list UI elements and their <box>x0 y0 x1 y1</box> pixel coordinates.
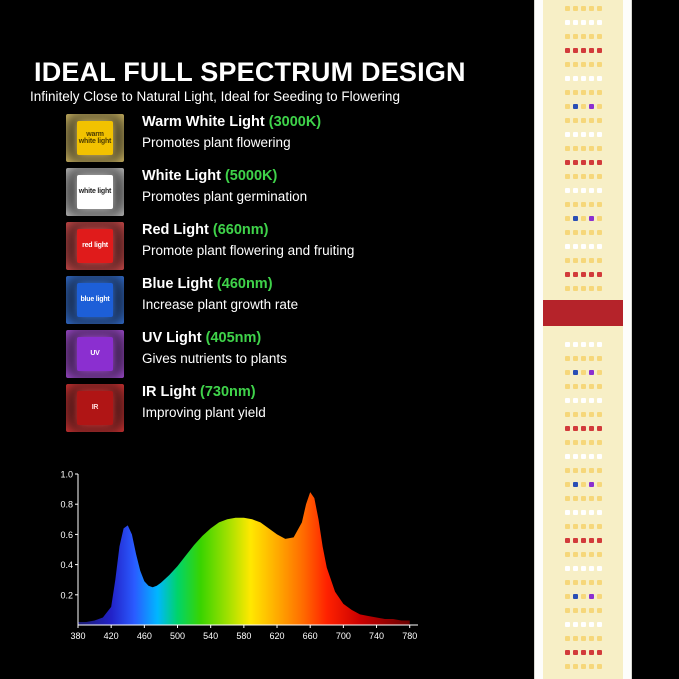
led-diode <box>581 6 586 11</box>
led-diode <box>573 468 578 473</box>
led-diode <box>573 174 578 179</box>
led-diode <box>573 370 578 375</box>
led-diode <box>573 76 578 81</box>
led-diode <box>581 510 586 515</box>
feature-title: Red Light (660nm) <box>142 222 354 238</box>
led-diode <box>589 244 594 249</box>
led-diode <box>597 188 602 193</box>
feature-row: blue lightBlue Light (460nm)Increase pla… <box>66 276 506 330</box>
led-row <box>543 594 623 599</box>
led-diode <box>565 160 570 165</box>
led-row <box>543 202 623 207</box>
led-diode <box>597 538 602 543</box>
feature-text: Warm White Light (3000K)Promotes plant f… <box>142 114 321 150</box>
led-diode <box>565 356 570 361</box>
led-diode <box>573 384 578 389</box>
led-diode <box>589 118 594 123</box>
led-diode <box>597 468 602 473</box>
led-diode <box>581 286 586 291</box>
led-diode <box>565 104 570 109</box>
led-row <box>543 104 623 109</box>
led-diode <box>597 524 602 529</box>
led-diode <box>573 202 578 207</box>
led-diode <box>589 132 594 137</box>
led-diode <box>573 34 578 39</box>
led-bar-panel <box>521 0 679 679</box>
led-diode <box>589 370 594 375</box>
chip-label: warm white light <box>77 121 113 155</box>
x-tick-label: 660 <box>303 631 318 641</box>
x-tick-label: 380 <box>70 631 85 641</box>
led-diode <box>589 90 594 95</box>
led-diode <box>573 636 578 641</box>
feature-description: Improving plant yield <box>142 405 266 420</box>
chip-label: IR <box>77 391 113 425</box>
led-diode <box>565 132 570 137</box>
led-row <box>543 566 623 571</box>
page-title: IDEAL FULL SPECTRUM DESIGN <box>34 57 466 88</box>
led-diode <box>573 160 578 165</box>
led-diode <box>581 622 586 627</box>
led-diode <box>565 272 570 277</box>
led-diode <box>573 524 578 529</box>
led-diode <box>597 370 602 375</box>
led-diode <box>573 664 578 669</box>
led-diode <box>597 244 602 249</box>
led-diode <box>565 566 570 571</box>
led-row <box>543 552 623 557</box>
led-diode <box>573 118 578 123</box>
feature-spec: (660nm) <box>213 222 269 238</box>
led-diode <box>581 566 586 571</box>
led-diode <box>573 552 578 557</box>
feature-description: Promote plant flowering and fruiting <box>142 243 354 258</box>
led-row <box>543 272 623 277</box>
led-row <box>543 454 623 459</box>
feature-description: Gives nutrients to plants <box>142 351 287 366</box>
led-diode <box>565 524 570 529</box>
led-diode <box>565 426 570 431</box>
led-diode <box>581 48 586 53</box>
led-diode <box>581 174 586 179</box>
led-diode <box>597 496 602 501</box>
led-diode <box>565 552 570 557</box>
feature-text: Blue Light (460nm)Increase plant growth … <box>142 276 298 312</box>
led-diode <box>589 622 594 627</box>
led-diode <box>589 566 594 571</box>
led-diode <box>565 650 570 655</box>
red-led-chip-icon: red light <box>66 222 124 270</box>
feature-text: Red Light (660nm)Promote plant flowering… <box>142 222 354 258</box>
led-diode <box>573 20 578 25</box>
led-diode <box>589 104 594 109</box>
led-diode <box>573 272 578 277</box>
led-diode <box>597 258 602 263</box>
feature-row: warm white lightWarm White Light (3000K)… <box>66 114 506 168</box>
y-tick-label: 0.6 <box>60 530 73 540</box>
led-diode <box>589 286 594 291</box>
feature-title: IR Light (730nm) <box>142 384 266 400</box>
led-diode <box>581 160 586 165</box>
led-row <box>543 230 623 235</box>
led-diode <box>565 538 570 543</box>
led-diode <box>597 20 602 25</box>
led-diode <box>589 272 594 277</box>
chip-label: red light <box>77 229 113 263</box>
led-diode <box>589 608 594 613</box>
led-diode <box>597 62 602 67</box>
led-diode <box>589 538 594 543</box>
led-diode <box>573 538 578 543</box>
led-diode <box>589 146 594 151</box>
led-row <box>543 216 623 221</box>
led-diode <box>589 412 594 417</box>
led-diode <box>597 426 602 431</box>
led-diode <box>581 356 586 361</box>
led-diode <box>597 650 602 655</box>
led-diode <box>565 384 570 389</box>
led-diode <box>573 454 578 459</box>
led-row <box>543 398 623 403</box>
led-diode <box>589 664 594 669</box>
led-diode <box>573 342 578 347</box>
led-diode <box>573 426 578 431</box>
led-diode <box>589 384 594 389</box>
feature-title: Blue Light (460nm) <box>142 276 298 292</box>
chip-label: UV <box>77 337 113 371</box>
led-diode <box>565 188 570 193</box>
led-diode <box>597 636 602 641</box>
led-diode <box>573 594 578 599</box>
spectrum-area <box>78 492 410 625</box>
led-diode <box>589 454 594 459</box>
led-diode <box>565 146 570 151</box>
led-diode <box>589 174 594 179</box>
led-diode <box>597 202 602 207</box>
led-row <box>543 244 623 249</box>
spectrum-chart-svg: 0.20.40.60.81.03804204605005405806206607… <box>50 466 430 651</box>
y-tick-label: 1.0 <box>60 470 73 480</box>
warm-white-led-chip-icon: warm white light <box>66 114 124 162</box>
led-diode <box>597 272 602 277</box>
led-diode <box>597 440 602 445</box>
led-diode <box>589 650 594 655</box>
feature-title: White Light (5000K) <box>142 168 307 184</box>
led-diode <box>565 34 570 39</box>
page-subtitle: Infinitely Close to Natural Light, Ideal… <box>30 89 400 104</box>
uv-led-chip-icon: UV <box>66 330 124 378</box>
led-diode <box>589 76 594 81</box>
feature-row: white lightWhite Light (5000K)Promotes p… <box>66 168 506 222</box>
led-diode <box>573 286 578 291</box>
led-diode <box>581 384 586 389</box>
led-diode <box>581 342 586 347</box>
led-row <box>543 440 623 445</box>
led-row <box>543 636 623 641</box>
led-diode <box>597 594 602 599</box>
led-diode <box>597 286 602 291</box>
led-diode <box>589 510 594 515</box>
led-diode <box>581 62 586 67</box>
led-diode <box>589 258 594 263</box>
led-diode <box>581 580 586 585</box>
led-diode <box>565 412 570 417</box>
led-diode <box>565 510 570 515</box>
led-diode <box>565 496 570 501</box>
led-diode <box>573 6 578 11</box>
led-bar-red-connector <box>543 300 623 326</box>
led-diode <box>589 62 594 67</box>
led-diode <box>597 6 602 11</box>
led-diode <box>581 608 586 613</box>
led-diode <box>581 426 586 431</box>
x-tick-label: 700 <box>336 631 351 641</box>
led-diode <box>597 580 602 585</box>
led-diode <box>589 594 594 599</box>
feature-title: Warm White Light (3000K) <box>142 114 321 130</box>
led-diode <box>573 216 578 221</box>
led-row <box>543 496 623 501</box>
white-led-chip-icon: white light <box>66 168 124 216</box>
led-row <box>543 482 623 487</box>
feature-description: Promotes plant germination <box>142 189 307 204</box>
led-diode <box>597 566 602 571</box>
led-diode <box>597 216 602 221</box>
led-row <box>543 524 623 529</box>
led-diode <box>597 132 602 137</box>
led-diode <box>573 146 578 151</box>
led-diode <box>565 286 570 291</box>
led-diode <box>565 622 570 627</box>
led-diode <box>581 412 586 417</box>
led-diode <box>581 216 586 221</box>
led-diode <box>565 580 570 585</box>
led-diode <box>573 356 578 361</box>
led-diode <box>589 342 594 347</box>
led-diode <box>597 48 602 53</box>
led-diode <box>597 622 602 627</box>
feature-text: White Light (5000K)Promotes plant germin… <box>142 168 307 204</box>
led-diode <box>573 132 578 137</box>
led-row <box>543 356 623 361</box>
led-diode <box>589 552 594 557</box>
led-diode <box>581 132 586 137</box>
led-diode <box>573 62 578 67</box>
led-spectrum-infographic: IDEAL FULL SPECTRUM DESIGN Infinitely Cl… <box>0 0 679 679</box>
led-diode <box>589 188 594 193</box>
led-diode <box>565 258 570 263</box>
feature-name: UV Light <box>142 330 206 346</box>
feature-row: IRIR Light (730nm)Improving plant yield <box>66 384 506 438</box>
x-tick-label: 740 <box>369 631 384 641</box>
led-row <box>543 664 623 669</box>
led-row <box>543 622 623 627</box>
led-diode <box>597 454 602 459</box>
led-row <box>543 62 623 67</box>
x-tick-label: 420 <box>104 631 119 641</box>
led-diode <box>573 622 578 627</box>
led-diode <box>581 594 586 599</box>
led-diode <box>589 160 594 165</box>
led-row <box>543 146 623 151</box>
feature-spec: (5000K) <box>225 168 277 184</box>
led-row <box>543 426 623 431</box>
led-diode <box>565 230 570 235</box>
x-tick-label: 540 <box>203 631 218 641</box>
led-row <box>543 6 623 11</box>
led-diode <box>581 650 586 655</box>
led-diode <box>573 440 578 445</box>
led-diode <box>589 580 594 585</box>
led-diode <box>565 468 570 473</box>
led-diode <box>581 90 586 95</box>
led-diode <box>565 594 570 599</box>
led-diode <box>597 230 602 235</box>
led-diode <box>589 230 594 235</box>
led-row <box>543 412 623 417</box>
led-diode <box>589 6 594 11</box>
led-diode <box>581 76 586 81</box>
led-diode <box>573 650 578 655</box>
feature-name: White Light <box>142 168 225 184</box>
led-row <box>543 580 623 585</box>
led-diode <box>581 20 586 25</box>
led-row <box>543 76 623 81</box>
led-row <box>543 132 623 137</box>
content-column: IDEAL FULL SPECTRUM DESIGN Infinitely Cl… <box>0 0 520 679</box>
led-diode <box>573 398 578 403</box>
feature-name: Red Light <box>142 222 213 238</box>
led-diode <box>581 496 586 501</box>
led-diode <box>565 174 570 179</box>
led-bar-frame <box>534 0 632 679</box>
led-diode <box>581 482 586 487</box>
chip-label: blue light <box>77 283 113 317</box>
led-row <box>543 286 623 291</box>
led-diode <box>581 636 586 641</box>
led-diode <box>597 160 602 165</box>
led-diode <box>589 356 594 361</box>
x-tick-label: 580 <box>236 631 251 641</box>
led-diode <box>581 538 586 543</box>
x-tick-label: 780 <box>402 631 417 641</box>
x-tick-label: 460 <box>137 631 152 641</box>
led-diode <box>581 230 586 235</box>
led-row <box>543 20 623 25</box>
led-diode <box>581 552 586 557</box>
led-row <box>543 650 623 655</box>
led-diode <box>565 6 570 11</box>
led-diode <box>581 146 586 151</box>
led-diode <box>581 258 586 263</box>
led-diode <box>565 118 570 123</box>
led-diode <box>573 230 578 235</box>
led-diode <box>589 524 594 529</box>
led-diode <box>565 370 570 375</box>
led-diode <box>597 146 602 151</box>
led-diode <box>573 48 578 53</box>
led-diode <box>589 216 594 221</box>
led-row <box>543 538 623 543</box>
led-diode <box>581 524 586 529</box>
led-diode <box>573 104 578 109</box>
led-diode <box>565 664 570 669</box>
feature-description: Increase plant growth rate <box>142 297 298 312</box>
led-diode <box>565 20 570 25</box>
led-row <box>543 468 623 473</box>
led-diode <box>597 76 602 81</box>
led-diode <box>573 566 578 571</box>
led-diode <box>565 76 570 81</box>
feature-spec: (405nm) <box>206 330 262 346</box>
led-diode <box>565 454 570 459</box>
led-diode <box>581 118 586 123</box>
led-diode <box>565 482 570 487</box>
led-diode <box>597 608 602 613</box>
led-diode <box>597 384 602 389</box>
led-diode <box>573 510 578 515</box>
blue-led-chip-icon: blue light <box>66 276 124 324</box>
led-diode <box>565 440 570 445</box>
led-diode <box>581 454 586 459</box>
led-row <box>543 370 623 375</box>
ir-led-chip-icon: IR <box>66 384 124 432</box>
led-diode <box>565 216 570 221</box>
led-row <box>543 608 623 613</box>
led-diode <box>597 342 602 347</box>
feature-row: red lightRed Light (660nm)Promote plant … <box>66 222 506 276</box>
y-tick-label: 0.8 <box>60 500 73 510</box>
led-row <box>543 258 623 263</box>
led-row <box>543 118 623 123</box>
led-diode <box>589 496 594 501</box>
led-diode <box>589 202 594 207</box>
led-diode <box>589 398 594 403</box>
led-row <box>543 342 623 347</box>
chip-label: white light <box>77 175 113 209</box>
led-diode <box>573 258 578 263</box>
led-diode <box>589 48 594 53</box>
led-row <box>543 34 623 39</box>
x-tick-label: 500 <box>170 631 185 641</box>
feature-text: UV Light (405nm)Gives nutrients to plant… <box>142 330 287 366</box>
led-diode <box>581 104 586 109</box>
led-diode <box>565 202 570 207</box>
led-diode <box>573 608 578 613</box>
led-diode <box>589 468 594 473</box>
led-diode <box>573 244 578 249</box>
feature-list: warm white lightWarm White Light (3000K)… <box>66 114 506 438</box>
led-diode <box>581 272 586 277</box>
led-diode <box>565 398 570 403</box>
led-diode <box>597 510 602 515</box>
led-diode <box>589 636 594 641</box>
led-diode <box>581 244 586 249</box>
led-diode <box>581 664 586 669</box>
led-diode <box>565 342 570 347</box>
led-diode <box>589 34 594 39</box>
led-diode <box>565 636 570 641</box>
led-diode <box>597 482 602 487</box>
feature-name: IR Light <box>142 384 200 400</box>
led-diode <box>597 104 602 109</box>
led-diode <box>573 496 578 501</box>
led-diode <box>597 356 602 361</box>
led-diode <box>581 468 586 473</box>
led-diode <box>581 202 586 207</box>
led-diode <box>581 370 586 375</box>
led-row <box>543 174 623 179</box>
